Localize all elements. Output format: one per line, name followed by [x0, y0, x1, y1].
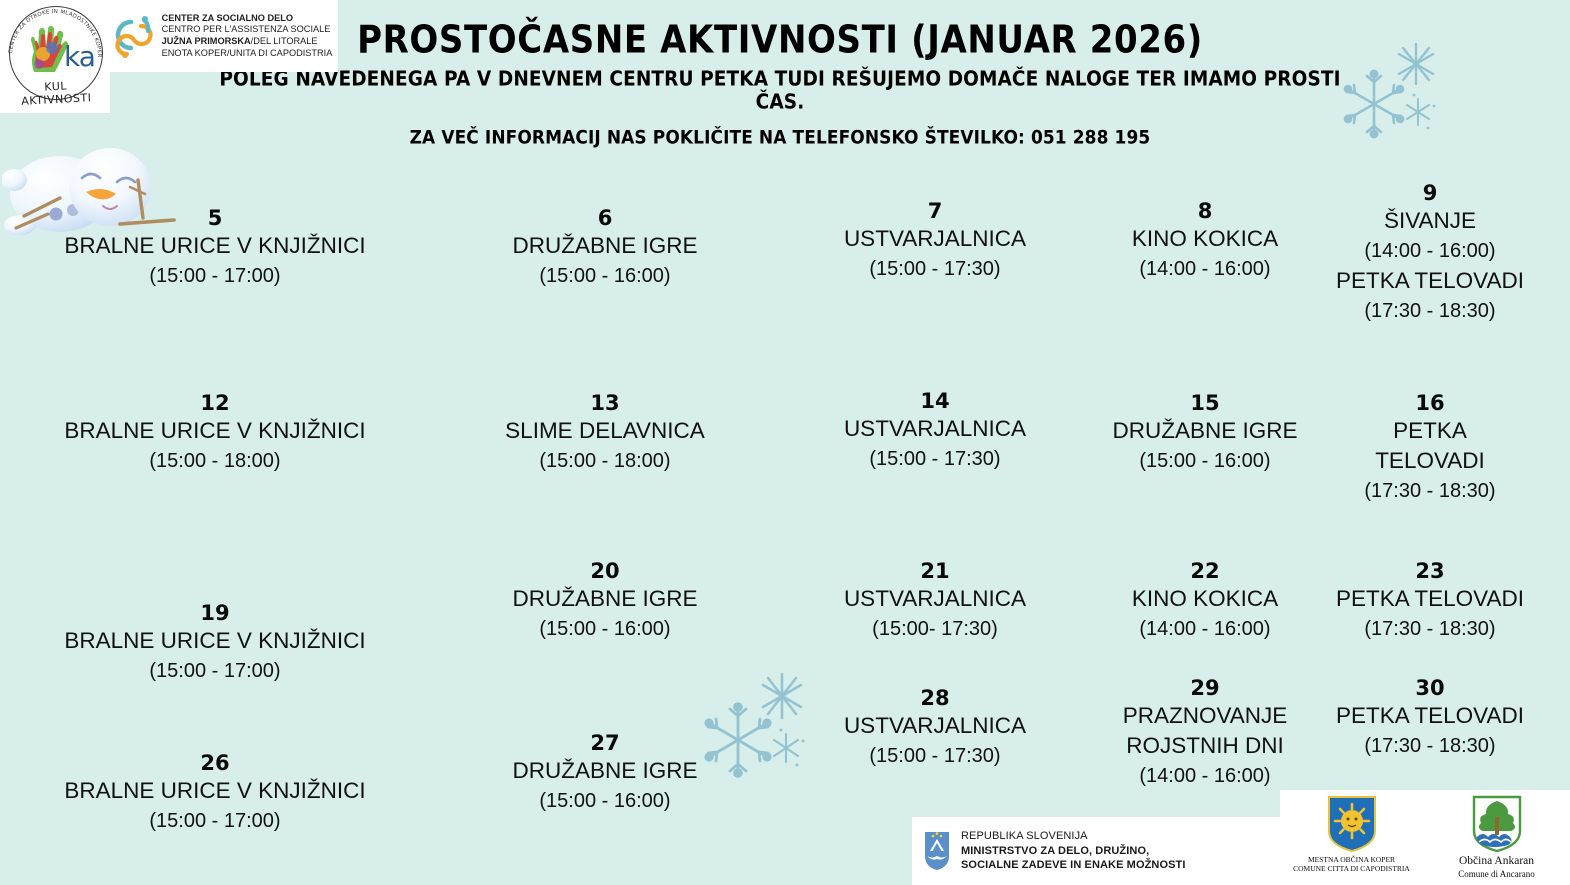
- csd-line-4: ENOTA KOPER/UNITA DI CAPODISTRIA: [162, 48, 333, 60]
- day-number: 16: [1290, 390, 1570, 416]
- calendar-day-30: 30PETKA TELOVADI(17:30 - 18:30): [1290, 675, 1570, 761]
- koper-logo-caption: MESTNA OBČINA KOPER COMUNE CITTA DI CAPO…: [1293, 855, 1410, 873]
- day-activity: BRALNE URICE V KNJIŽNICI: [30, 416, 400, 446]
- day-time: (15:00 - 18:00): [400, 446, 810, 476]
- csd-line-3: JUŽNA PRIMORSKA/DEL LITORALE: [162, 36, 333, 48]
- day-number: 19: [30, 600, 400, 626]
- day-activity: ŠIVANJE: [1290, 206, 1570, 236]
- slovenia-coat-of-arms-icon: [922, 830, 952, 872]
- csd-logo-text: CENTER ZA SOCIALNO DELO CENTRO PER L'ASS…: [162, 13, 333, 59]
- day-activity: BRALNE URICE V KNJIŽNICI: [30, 231, 400, 261]
- calendar-day-5: 5BRALNE URICE V KNJIŽNICI(15:00 - 17:00): [30, 205, 400, 291]
- calendar-day-19: 19BRALNE URICE V KNJIŽNICI(15:00 - 17:00…: [30, 600, 400, 686]
- kul-caption: KUL AKTIVNOSTI: [13, 78, 98, 108]
- koper-line-2: COMUNE CITTA DI CAPODISTRIA: [1293, 864, 1410, 873]
- ankaran-line-1: Občina Ankaran: [1458, 855, 1534, 868]
- day-time: (17:30 - 18:30): [1290, 476, 1570, 506]
- day-activity: SLIME DELAVNICA: [400, 416, 810, 446]
- kul-mark-label: ka: [64, 40, 95, 73]
- day-activity: PETKA TELOVADI: [1290, 266, 1570, 296]
- calendar-day-9: 9ŠIVANJE(14:00 - 16:00)PETKA TELOVADI(17…: [1290, 180, 1570, 326]
- day-time: (15:00 - 17:00): [30, 261, 400, 291]
- header-subtitle-2: ZA VEČ INFORMACIJ NAS POKLIČITE NA TELEF…: [200, 127, 1360, 149]
- csd-logo: CENTER ZA SOCIALNO DELO CENTRO PER L'ASS…: [110, 0, 338, 72]
- calendar-day-13: 13SLIME DELAVNICA(15:00 - 18:00): [400, 390, 810, 476]
- day-number: 23: [1290, 558, 1570, 584]
- day-activity: DRUŽABNE IGRE: [400, 584, 810, 614]
- day-activity: PETKA TELOVADI: [1290, 701, 1570, 731]
- day-number: 20: [400, 558, 810, 584]
- day-number: 26: [30, 750, 400, 776]
- day-time: (15:00 - 17:00): [30, 656, 400, 686]
- day-time: (15:00 - 16:00): [400, 261, 810, 291]
- organisation-logos: DNEVNI CENTER ZA OTROKE IN MLADOSTNIKE K…: [0, 0, 338, 113]
- calendar-day-16: 16PETKATELOVADI(17:30 - 18:30): [1290, 390, 1570, 506]
- kul-aktivnosti-logo: DNEVNI CENTER ZA OTROKE IN MLADOSTNIKE K…: [0, 0, 110, 113]
- koper-municipality-logo: MESTNA OBČINA KOPER COMUNE CITTA DI CAPO…: [1280, 790, 1423, 885]
- sponsor-logos: REPUBLIKA SLOVENIJA MINISTRSTVO ZA DELO,…: [912, 790, 1570, 885]
- day-time: (15:00 - 17:00): [30, 806, 400, 836]
- day-activity: DRUŽABNE IGRE: [400, 756, 810, 786]
- ankaran-line-2: Comune di Ancarano: [1458, 868, 1534, 881]
- day-number: 12: [30, 390, 400, 416]
- day-time: (15:00 - 16:00): [400, 614, 810, 644]
- calendar-day-23: 23PETKA TELOVADI(17:30 - 18:30): [1290, 558, 1570, 644]
- csd-line-3-bold: JUŽNA PRIMORSKA: [162, 36, 251, 46]
- day-time: (15:00 - 18:00): [30, 446, 400, 476]
- koper-line-1: MESTNA OBČINA KOPER: [1293, 855, 1410, 864]
- day-activity: TELOVADI: [1290, 446, 1570, 476]
- day-activity: BRALNE URICE V KNJIŽNICI: [30, 626, 400, 656]
- calendar-day-26: 26BRALNE URICE V KNJIŽNICI(15:00 - 17:00…: [30, 750, 400, 836]
- ministry-line-3: SOCIALNE ZADEVE IN ENAKE MOŽNOSTI: [961, 858, 1186, 873]
- day-activity: PETKA: [1290, 416, 1570, 446]
- calendar-day-12: 12BRALNE URICE V KNJIŽNICI(15:00 - 18:00…: [30, 390, 400, 476]
- calendar-day-20: 20DRUŽABNE IGRE(15:00 - 16:00): [400, 558, 810, 644]
- csd-mark-icon: [114, 14, 156, 58]
- ankaran-logo-caption: Občina Ankaran Comune di Ancarano: [1458, 855, 1534, 881]
- day-time: (14:00 - 16:00): [1290, 236, 1570, 266]
- day-time: (17:30 - 18:30): [1290, 614, 1570, 644]
- day-number: 6: [400, 205, 810, 231]
- day-number: 27: [400, 730, 810, 756]
- calendar-day-27: 27DRUŽABNE IGRE(15:00 - 16:00): [400, 730, 810, 816]
- day-number: 5: [30, 205, 400, 231]
- day-number: 30: [1290, 675, 1570, 701]
- day-time: (14:00 - 16:00): [1050, 761, 1360, 791]
- ministry-line-1: REPUBLIKA SLOVENIJA: [961, 829, 1186, 844]
- day-activity: PETKA TELOVADI: [1290, 584, 1570, 614]
- day-time: (17:30 - 18:30): [1290, 296, 1570, 326]
- day-activity: BRALNE URICE V KNJIŽNICI: [30, 776, 400, 806]
- calendar-day-6: 6DRUŽABNE IGRE(15:00 - 16:00): [400, 205, 810, 291]
- day-number: 13: [400, 390, 810, 416]
- csd-line-1: CENTER ZA SOCIALNO DELO: [162, 13, 333, 25]
- ankaran-municipality-logo: Občina Ankaran Comune di Ancarano: [1423, 790, 1570, 885]
- ministry-line-2: MINISTRSTVO ZA DELO, DRUŽINO,: [961, 844, 1186, 859]
- header-subtitle-1: POLEG NAVEDENEGA PA V DNEVNEM CENTRU PET…: [200, 68, 1360, 114]
- day-number: 9: [1290, 180, 1570, 206]
- activity-calendar: 5BRALNE URICE V KNJIŽNICI(15:00 - 17:00)…: [0, 150, 1570, 870]
- csd-line-3-rest: /DEL LITORALE: [251, 36, 318, 46]
- day-time: (17:30 - 18:30): [1290, 731, 1570, 761]
- day-activity: DRUŽABNE IGRE: [400, 231, 810, 261]
- ministry-logo: REPUBLIKA SLOVENIJA MINISTRSTVO ZA DELO,…: [912, 817, 1280, 885]
- poster-header: PROSTOČASNE AKTIVNOSTI (JANUAR 2026) POL…: [200, 18, 1360, 148]
- ankaran-crest-icon: [1471, 795, 1523, 853]
- ministry-logo-text: REPUBLIKA SLOVENIJA MINISTRSTVO ZA DELO,…: [961, 829, 1186, 873]
- koper-crest-icon: [1326, 795, 1378, 853]
- csd-line-2: CENTRO PER L'ASSISTENZA SOCIALE: [162, 24, 333, 36]
- page-title: PROSTOČASNE AKTIVNOSTI (JANUAR 2026): [200, 18, 1360, 63]
- day-time: (15:00 - 16:00): [400, 786, 810, 816]
